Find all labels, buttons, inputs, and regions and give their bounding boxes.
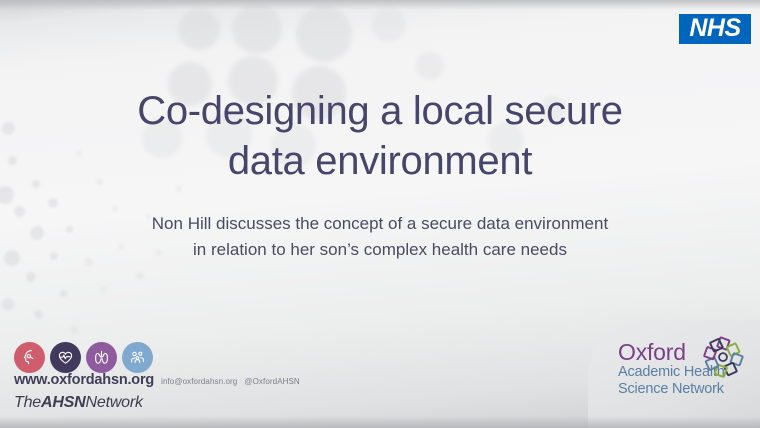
people-family-icon — [122, 342, 153, 373]
ahsn-network-wordmark: TheAHSNNetwork — [14, 394, 143, 412]
contact-line: www.oxfordahsn.org info@oxfordahsn.org @… — [14, 372, 300, 388]
page-subtitle: Non Hill discusses the concept of a secu… — [0, 211, 760, 263]
ahsn-wordmark-ahsn: AHSN — [41, 394, 86, 411]
theme-icon-row — [14, 342, 153, 373]
subtitle-line-2: in relation to her son’s complex health … — [0, 237, 760, 263]
nhs-logo: NHS — [679, 14, 751, 44]
email-link[interactable]: info@oxfordahsn.org — [161, 377, 237, 386]
ahsn-wordmark-network: Network — [86, 394, 143, 411]
page-title: Co-designing a local secure data environ… — [0, 86, 760, 186]
subtitle-line-1: Non Hill discusses the concept of a secu… — [152, 214, 608, 233]
top-gradient-band — [0, 0, 760, 10]
video-slide: NHS Co-designing a local secure data env… — [0, 0, 760, 428]
mental-health-icon — [14, 342, 45, 373]
bottom-gradient-band — [0, 416, 760, 428]
oxford-logo-word: Oxford — [618, 340, 686, 365]
lungs-icon — [86, 342, 117, 373]
oxford-logo-subtitle-line-2: Science Network — [618, 381, 725, 398]
title-line-2: data environment — [0, 136, 760, 186]
heart-pulse-icon — [50, 342, 81, 373]
oxford-ahsn-emblem-icon — [701, 336, 745, 380]
twitter-handle[interactable]: @OxfordAHSN — [244, 377, 299, 386]
nhs-logo-text: NHS — [689, 16, 740, 41]
ahsn-wordmark-the: The — [14, 394, 41, 411]
oxford-ahsn-logo: Oxford Academic Health Science Network — [618, 340, 752, 402]
title-line-1: Co-designing a local secure — [137, 89, 623, 133]
website-link[interactable]: www.oxfordahsn.org — [14, 372, 154, 388]
